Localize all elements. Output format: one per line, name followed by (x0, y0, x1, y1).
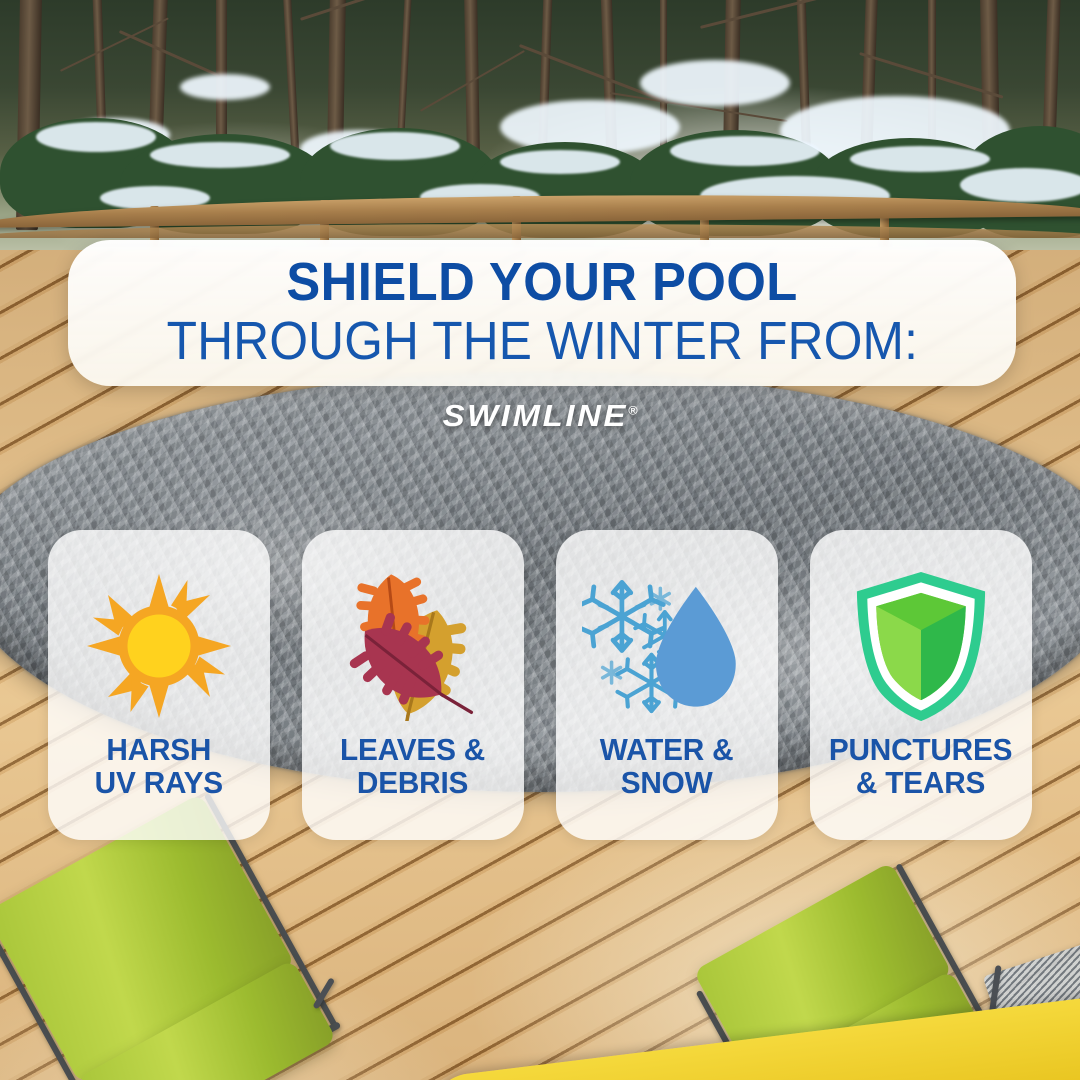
feature-card-label: LEAVES & DEBRIS (335, 734, 492, 800)
feature-card-label: WATER & SNOW (594, 734, 739, 800)
leaves-icon (302, 558, 524, 734)
headline-banner: SHIELD YOUR POOL THROUGH THE WINTER FROM… (68, 240, 1016, 386)
headline-line-2: THROUGH THE WINTER FROM: (166, 313, 917, 370)
brand-name: SWIMLINE (443, 398, 628, 433)
shield-icon (810, 558, 1032, 734)
feature-card-uv-rays[interactable]: HARSH UV RAYS (48, 530, 270, 840)
headline-line-1: SHIELD YOUR POOL (286, 255, 797, 309)
swimline-logo: SWIMLINE® (0, 398, 1080, 434)
feature-card-punctures-tears[interactable]: PUNCTURES & TEARS (810, 530, 1032, 840)
feature-card-label: HARSH UV RAYS (89, 734, 229, 800)
feature-card-label: PUNCTURES & TEARS (823, 734, 1018, 800)
poster-canvas: SHIELD YOUR POOL THROUGH THE WINTER FROM… (0, 0, 1080, 1080)
water-snow-icon (556, 558, 778, 734)
sun-icon (48, 558, 270, 734)
feature-card-leaves-debris[interactable]: LEAVES & DEBRIS (302, 530, 524, 840)
registered-trademark-icon: ® (628, 404, 637, 418)
feature-card-row: HARSH UV RAYS (48, 530, 1032, 840)
feature-card-water-snow[interactable]: WATER & SNOW (556, 530, 778, 840)
